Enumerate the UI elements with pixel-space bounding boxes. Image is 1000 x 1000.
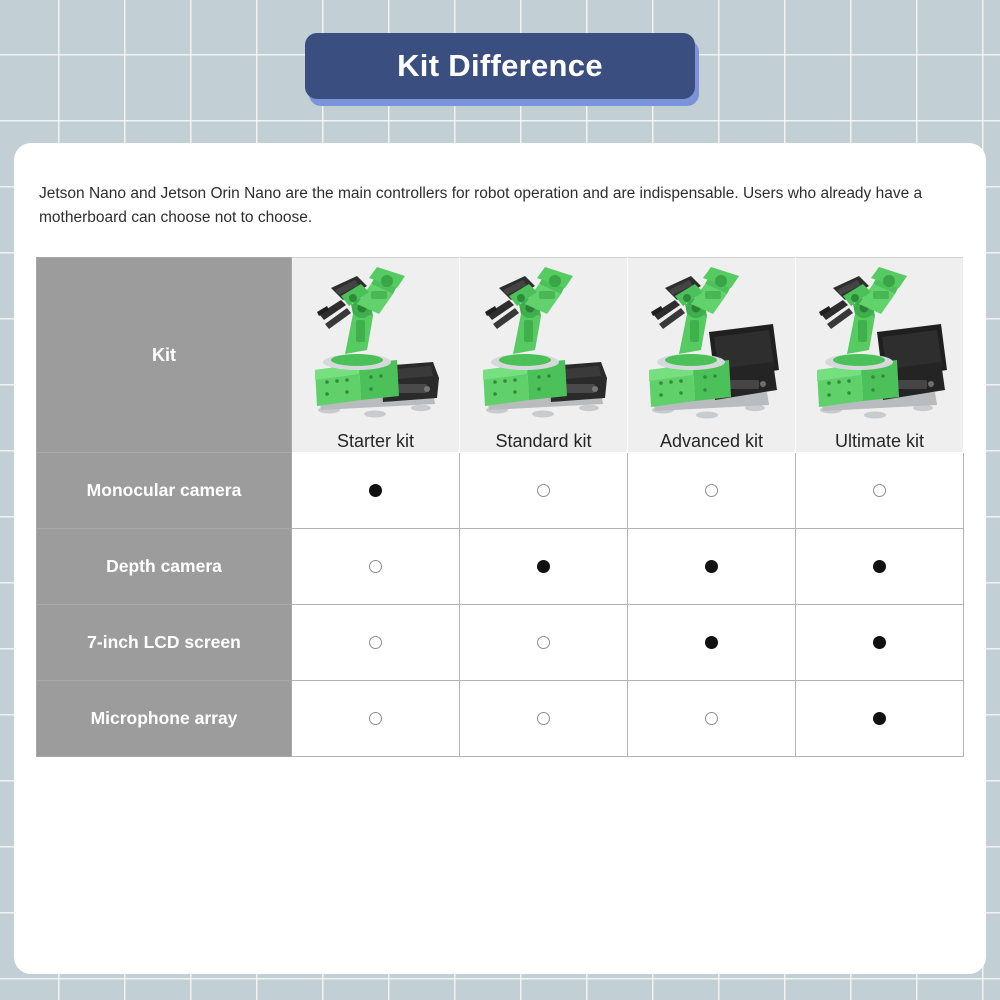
- title-banner: Kit Difference: [305, 33, 695, 100]
- page-title: Kit Difference: [397, 48, 603, 84]
- included-dot-icon: [873, 636, 886, 649]
- feature-availability-cell: [292, 453, 460, 529]
- table-row: Depth camera: [37, 529, 964, 605]
- feature-availability-cell: [460, 681, 628, 757]
- not-included-dot-icon: [537, 712, 550, 725]
- feature-availability-cell: [796, 605, 964, 681]
- feature-availability-cell: [460, 529, 628, 605]
- feature-availability-cell: [460, 605, 628, 681]
- feature-availability-cell: [796, 529, 964, 605]
- intro-paragraph: Jetson Nano and Jetson Orin Nano are the…: [39, 182, 959, 229]
- kit-column-header[interactable]: Ultimate kit: [796, 258, 964, 453]
- feature-availability-cell: [292, 605, 460, 681]
- not-included-dot-icon: [369, 560, 382, 573]
- feature-availability-cell: [796, 453, 964, 529]
- feature-label: Monocular camera: [37, 453, 292, 529]
- kit-corner-label: Kit: [37, 258, 292, 453]
- not-included-dot-icon: [369, 712, 382, 725]
- table-row: Monocular camera: [37, 453, 964, 529]
- feature-label: Microphone array: [37, 681, 292, 757]
- kit-column-header[interactable]: Advanced kit: [628, 258, 796, 453]
- feature-availability-cell: [796, 681, 964, 757]
- robot-arm-illustration: [469, 258, 619, 423]
- included-dot-icon: [873, 712, 886, 725]
- feature-availability-cell: [292, 681, 460, 757]
- included-dot-icon: [873, 560, 886, 573]
- not-included-dot-icon: [537, 636, 550, 649]
- not-included-dot-icon: [369, 636, 382, 649]
- table-row: Microphone array: [37, 681, 964, 757]
- included-dot-icon: [537, 560, 550, 573]
- included-dot-icon: [705, 636, 718, 649]
- not-included-dot-icon: [537, 484, 550, 497]
- table-row: 7-inch LCD screen: [37, 605, 964, 681]
- kit-name-label: Ultimate kit: [796, 431, 963, 452]
- feature-availability-cell: [628, 681, 796, 757]
- feature-availability-cell: [292, 529, 460, 605]
- kit-name-label: Starter kit: [292, 431, 459, 452]
- title-banner-plate: Kit Difference: [305, 33, 695, 99]
- feature-label: 7-inch LCD screen: [37, 605, 292, 681]
- table-header-row: Kit: [37, 258, 964, 453]
- feature-availability-cell: [628, 605, 796, 681]
- robot-arm-with-lcd-illustration: [637, 258, 787, 423]
- feature-label: Depth camera: [37, 529, 292, 605]
- kit-comparison-table: Kit: [36, 257, 964, 757]
- not-included-dot-icon: [705, 484, 718, 497]
- title-banner-container: Kit Difference: [0, 33, 1000, 100]
- robot-arm-with-lcd-illustration: [805, 258, 955, 423]
- kit-column-header[interactable]: Starter kit: [292, 258, 460, 453]
- content-card: Jetson Nano and Jetson Orin Nano are the…: [14, 143, 986, 974]
- feature-availability-cell: [460, 453, 628, 529]
- included-dot-icon: [705, 560, 718, 573]
- not-included-dot-icon: [705, 712, 718, 725]
- kit-column-header[interactable]: Standard kit: [460, 258, 628, 453]
- feature-availability-cell: [628, 453, 796, 529]
- kit-name-label: Standard kit: [460, 431, 627, 452]
- kit-name-label: Advanced kit: [628, 431, 795, 452]
- feature-availability-cell: [628, 529, 796, 605]
- included-dot-icon: [369, 484, 382, 497]
- not-included-dot-icon: [873, 484, 886, 497]
- robot-arm-illustration: [301, 258, 451, 423]
